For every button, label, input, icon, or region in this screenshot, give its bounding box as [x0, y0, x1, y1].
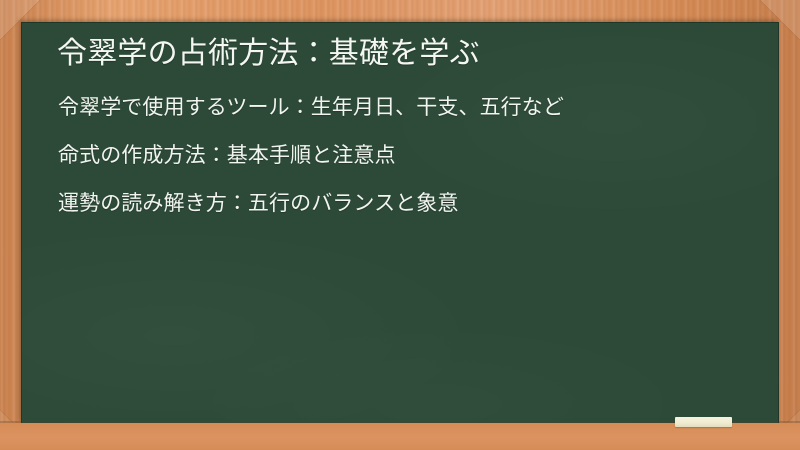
chalk-ledge [0, 423, 800, 450]
chalk-stick [675, 417, 732, 427]
list-item: 運勢の読み解き方：五行のバランスと象意 [58, 188, 738, 218]
chalkboard-content: 令翠学の占術方法：基礎を学ぶ 令翠学で使用するツール：生年月日、干支、五行など … [21, 22, 779, 219]
bullet-list: 令翠学で使用するツール：生年月日、干支、五行など 命式の作成方法：基本手順と注意… [47, 92, 753, 219]
chalkboard-surface: 令翠学の占術方法：基礎を学ぶ 令翠学で使用するツール：生年月日、干支、五行など … [21, 22, 779, 424]
list-item: 命式の作成方法：基本手順と注意点 [58, 140, 738, 170]
chalkboard-slide: 令翠学の占術方法：基礎を学ぶ 令翠学で使用するツール：生年月日、干支、五行など … [0, 0, 800, 450]
list-item: 令翠学で使用するツール：生年月日、干支、五行など [58, 92, 738, 122]
page-title: 令翠学の占術方法：基礎を学ぶ [57, 34, 753, 74]
